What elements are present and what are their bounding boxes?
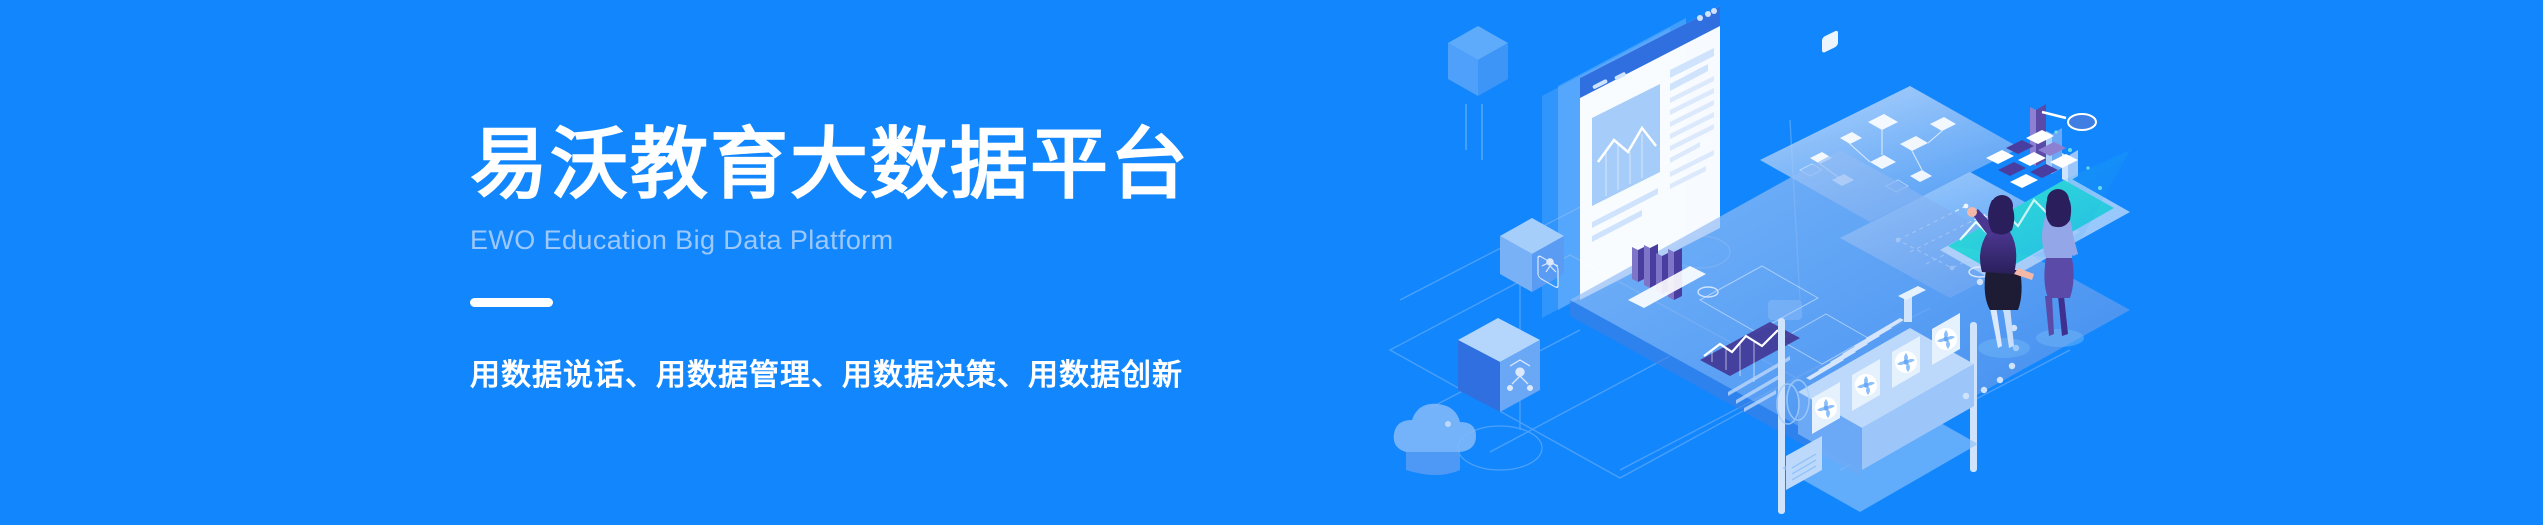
cloud-icon	[1394, 404, 1476, 475]
hero-text-block: 易沃教育大数据平台 EWO Education Big Data Platfor…	[470, 118, 1370, 395]
isometric-big-data-illustration	[1370, 0, 2130, 525]
floating-cube	[1448, 26, 1508, 160]
title-divider	[470, 298, 553, 307]
hero-banner: 易沃教育大数据平台 EWO Education Big Data Platfor…	[0, 0, 2543, 525]
page-title: 易沃教育大数据平台	[470, 118, 1370, 210]
hero-tagline: 用数据说话、用数据管理、用数据决策、用数据创新	[470, 357, 1370, 395]
magnifier-icon	[2042, 112, 2096, 130]
cube-node-lower	[1458, 318, 1540, 412]
page-subtitle: EWO Education Big Data Platform	[470, 224, 1370, 256]
